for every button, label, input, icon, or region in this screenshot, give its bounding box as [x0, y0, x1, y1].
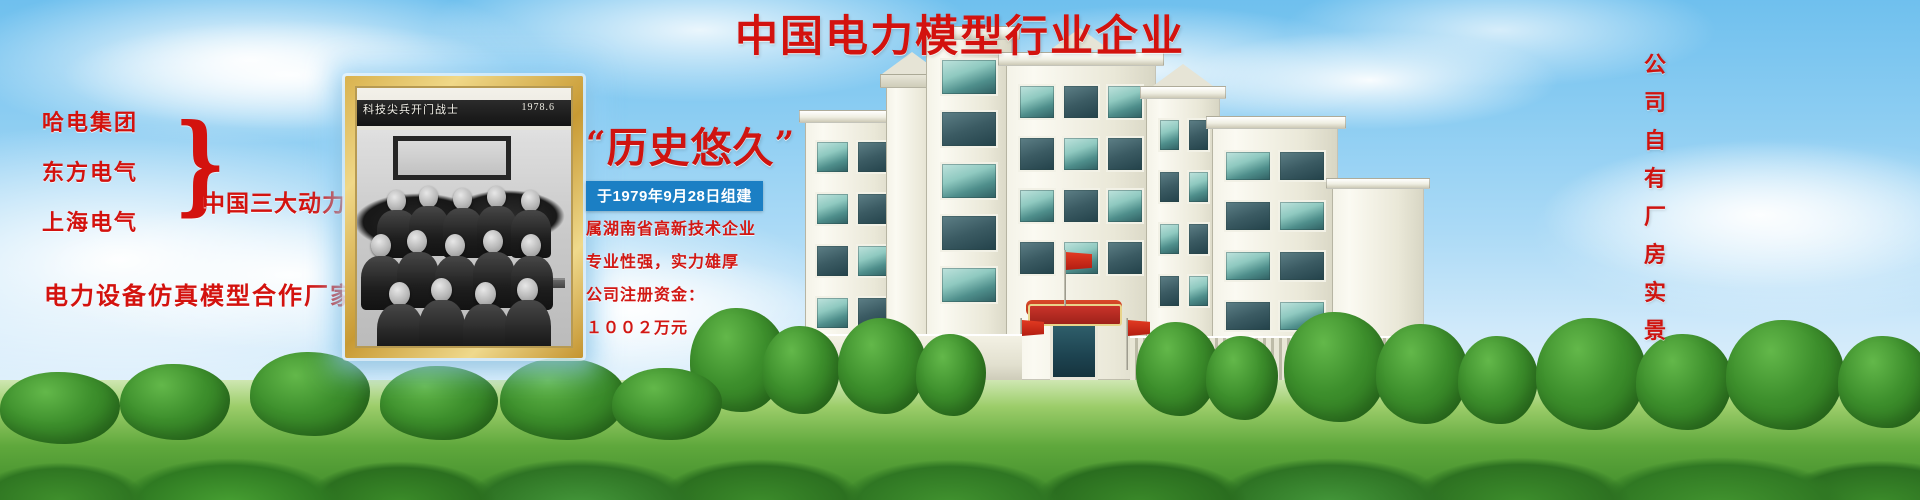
history-headline: “历史悠久” — [586, 126, 816, 170]
brace-label: 中国三大动力 — [202, 184, 346, 218]
window-row — [1224, 150, 1326, 182]
detail-line: 公司注册资金： — [586, 288, 816, 304]
window — [1224, 200, 1272, 232]
window-row — [1018, 188, 1144, 224]
detail-line: 专业性强，实力雄厚 — [586, 255, 816, 271]
detail-line: 属湖南省高新技术企业 — [586, 222, 816, 238]
window-row — [815, 140, 891, 174]
window — [940, 162, 998, 200]
photo-person-head — [483, 230, 503, 253]
photo-person-body — [377, 304, 423, 348]
company-list: 哈电集团 东方电气 上海电气 — [42, 112, 162, 262]
history-headline-text: 历史悠久 — [607, 125, 775, 171]
photo-person-head — [453, 188, 472, 210]
window-row — [1158, 274, 1210, 308]
building-cornice — [1326, 178, 1430, 189]
window — [1158, 274, 1181, 308]
vertical-char: 自 — [1626, 130, 1684, 152]
window — [1106, 240, 1144, 276]
window — [1158, 170, 1181, 204]
right-vertical-text: 公 司 自 有 厂 房 实 景 — [1626, 54, 1684, 358]
tree — [1206, 336, 1278, 420]
flag-pole — [1126, 318, 1128, 370]
window — [1187, 222, 1210, 256]
vertical-char: 有 — [1626, 168, 1684, 190]
window — [1224, 250, 1272, 282]
window-row — [940, 110, 998, 148]
tree — [1136, 322, 1218, 416]
tree — [250, 352, 370, 436]
tree — [120, 364, 230, 440]
tree — [500, 358, 626, 440]
list-item: 上海电气 — [42, 212, 162, 234]
photo-date: 1978.6 — [522, 102, 556, 113]
window-row — [940, 266, 998, 304]
photo-person-head — [431, 278, 452, 302]
window — [1158, 118, 1181, 152]
window-row — [940, 162, 998, 200]
quote-close-mark: ” — [775, 124, 796, 164]
vertical-char: 厂 — [1626, 206, 1684, 228]
window-row — [940, 58, 998, 96]
window-row — [815, 192, 891, 226]
national-flag — [1022, 320, 1044, 336]
window-row — [1158, 222, 1210, 256]
window-row — [1018, 84, 1144, 120]
window — [815, 244, 850, 278]
left-text-block: 哈电集团 东方电气 上海电气 } 中国三大动力 电力设备仿真模型合作厂家 — [34, 112, 374, 302]
window — [1106, 188, 1144, 224]
building-cornice — [1206, 116, 1346, 129]
quote-open-mark: “ — [586, 124, 607, 164]
photo-person-head — [371, 234, 391, 257]
photo-person-head — [475, 282, 496, 306]
window — [1018, 240, 1056, 276]
window — [1187, 274, 1210, 308]
window — [940, 110, 998, 148]
window-row — [815, 244, 891, 278]
photo-person-head — [407, 230, 427, 253]
window — [1106, 136, 1144, 172]
window-row — [1158, 118, 1210, 152]
photo-person-head — [387, 190, 406, 212]
window — [1158, 222, 1181, 256]
window-row — [1224, 250, 1326, 282]
window — [940, 58, 998, 96]
tree — [0, 372, 120, 444]
photo-person-head — [487, 186, 506, 208]
photo-person-head — [521, 190, 540, 212]
window — [940, 214, 998, 252]
window — [815, 296, 850, 330]
photo-group-image — [357, 130, 571, 348]
tree — [1838, 336, 1920, 428]
window — [1106, 84, 1144, 120]
window-row — [1018, 136, 1144, 172]
flag-pole — [1064, 250, 1066, 306]
window — [1018, 188, 1056, 224]
list-item: 哈电集团 — [42, 112, 162, 134]
photo-person-body — [419, 300, 465, 348]
photo-person-head — [517, 278, 538, 302]
founding-date-ribbon: 于1979年9月28日组建 — [586, 181, 763, 211]
photo-person-body — [463, 304, 509, 348]
tree — [1376, 324, 1468, 424]
vertical-char: 实 — [1626, 282, 1684, 304]
photo-person-head — [419, 186, 438, 208]
list-item: 东方电气 — [42, 162, 162, 184]
tree — [838, 318, 926, 414]
tree — [1284, 312, 1388, 422]
tree — [380, 366, 498, 440]
window — [1062, 188, 1100, 224]
tree — [612, 368, 722, 440]
window — [815, 140, 850, 174]
tree — [1726, 320, 1844, 430]
window — [1278, 200, 1326, 232]
window — [1062, 136, 1100, 172]
window — [1018, 136, 1056, 172]
left-block-tagline: 电力设备仿真模型合作厂家 — [44, 276, 356, 311]
tree — [1458, 336, 1538, 424]
promotional-banner: 中国电力模型行业企业 哈电集团 东方电气 上海电气 } 中国三大动力 电力设备仿… — [0, 0, 1920, 500]
photo-person-head — [389, 282, 410, 306]
window — [1187, 170, 1210, 204]
window — [1224, 150, 1272, 182]
photo-inner-frame — [393, 136, 511, 180]
vertical-char: 司 — [1626, 92, 1684, 114]
photo-person-head — [445, 234, 465, 257]
historic-photo: 科技尖兵开门战士 1978.6 — [355, 86, 573, 348]
building-cornice — [1140, 86, 1226, 99]
roof-pediment — [1153, 64, 1213, 86]
window — [1224, 300, 1272, 332]
window — [1018, 84, 1056, 120]
national-flag — [1066, 252, 1092, 270]
window — [815, 192, 850, 226]
window — [940, 266, 998, 304]
window-row — [1158, 170, 1210, 204]
national-flag — [1128, 320, 1150, 336]
building-entrance — [1050, 322, 1098, 380]
center-detail-lines: 属湖南省高新技术企业 专业性强，实力雄厚 公司注册资金： １００２万元 — [586, 222, 816, 337]
vertical-char: 房 — [1626, 244, 1684, 266]
window-row — [940, 214, 998, 252]
center-text-block: “历史悠久” 于1979年9月28日组建 属湖南省高新技术企业 专业性强，实力雄… — [586, 126, 816, 354]
vertical-char: 公 — [1626, 54, 1684, 76]
cloud-shape — [1540, 140, 1920, 290]
window — [1278, 250, 1326, 282]
window — [1278, 150, 1326, 182]
photo-person-body — [505, 300, 551, 348]
photo-person-head — [521, 234, 541, 257]
window-row — [1224, 200, 1326, 232]
window — [1062, 84, 1100, 120]
detail-line: １００２万元 — [586, 321, 816, 337]
tree — [916, 334, 986, 416]
vertical-char: 景 — [1626, 320, 1684, 342]
historic-photo-frame: 科技尖兵开门战士 1978.6 — [345, 76, 583, 358]
